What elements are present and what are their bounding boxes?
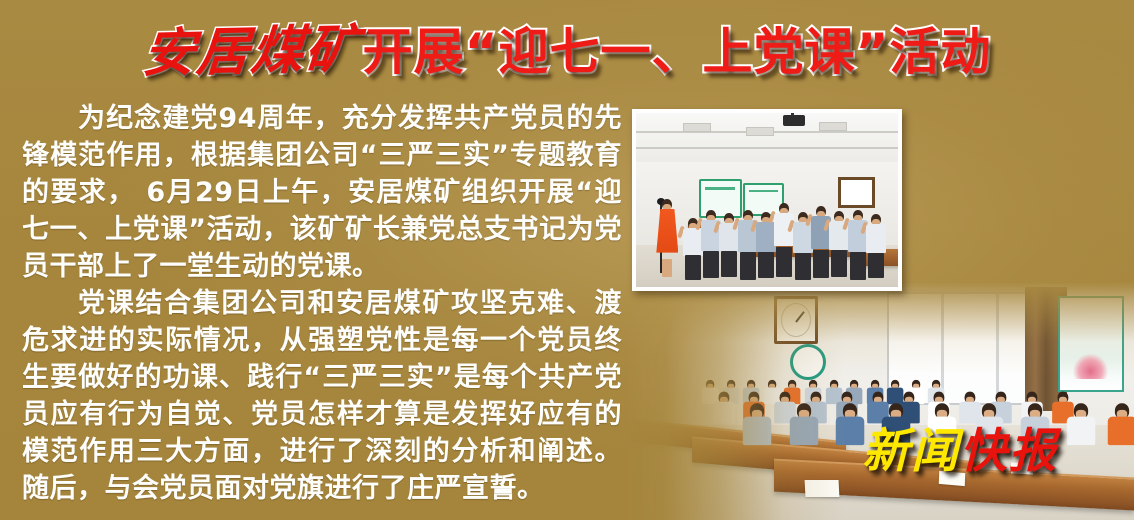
person-torso <box>790 417 819 446</box>
article-paragraph-2: 党课结合集团公司和安居煤矿攻坚克难、渡危求进的实际情况，从强塑党性是每一个党员终… <box>22 285 622 507</box>
person-torso <box>1067 417 1096 446</box>
person-figure <box>654 199 680 277</box>
photo-top-oath-ceremony <box>632 109 902 291</box>
news-watermark: 新闻快报 <box>862 428 1058 475</box>
poster-title: 安居煤矿 开展“迎七一、上党课”活动 <box>0 12 1134 92</box>
person-figure <box>891 380 900 395</box>
picture-frame <box>838 177 875 207</box>
person-figure <box>744 403 771 446</box>
person-figure <box>837 403 864 446</box>
photo-bottom-scene <box>620 282 1134 520</box>
person-figure <box>829 380 838 395</box>
projector-icon <box>783 115 805 126</box>
watermark-part-one: 新闻 <box>862 424 960 479</box>
person-figure <box>1068 403 1095 446</box>
company-emblem-icon <box>790 344 826 380</box>
news-poster: 安居煤矿 开展“迎七一、上党课”活动 为纪念建党94周年，充分发挥共产党员的先锋… <box>0 0 1134 520</box>
person-torso <box>713 402 735 424</box>
title-main-text: 开展“迎七一、上党课”活动 <box>363 27 992 77</box>
photo-top-scene <box>636 113 898 287</box>
photo-bottom-lecture-audience <box>620 282 1134 520</box>
ceiling-vent <box>746 127 774 136</box>
ceiling-vent <box>683 123 711 132</box>
person-legs <box>868 253 884 279</box>
person-torso <box>1108 417 1134 446</box>
person-figure <box>1109 403 1134 446</box>
person-torso <box>836 417 865 446</box>
wall-poster <box>1058 296 1124 392</box>
person-head <box>662 199 672 210</box>
person-torso <box>866 224 886 253</box>
person-figure <box>716 392 732 417</box>
title-brush-text: 安居煤矿 <box>140 24 361 81</box>
person-figure <box>706 380 715 395</box>
person-figure <box>864 214 888 278</box>
article-body: 为纪念建党94周年，充分发挥共产党员的先锋模范作用，根据集团公司“三严三实”专题… <box>22 100 622 507</box>
desk-paper <box>805 480 840 497</box>
ceiling-vent <box>819 122 847 131</box>
meeting-room-ceiling <box>636 113 898 165</box>
person-legs <box>662 259 672 277</box>
person-torso <box>656 209 678 253</box>
wall-clock-icon <box>774 296 818 344</box>
person-figure <box>768 380 777 395</box>
watermark-part-two: 快报 <box>960 424 1058 479</box>
person-figure <box>790 403 817 446</box>
article-paragraph-1: 为纪念建党94周年，充分发挥共产党员的先锋模范作用，根据集团公司“三严三实”专题… <box>22 100 622 285</box>
person-torso <box>743 417 772 446</box>
